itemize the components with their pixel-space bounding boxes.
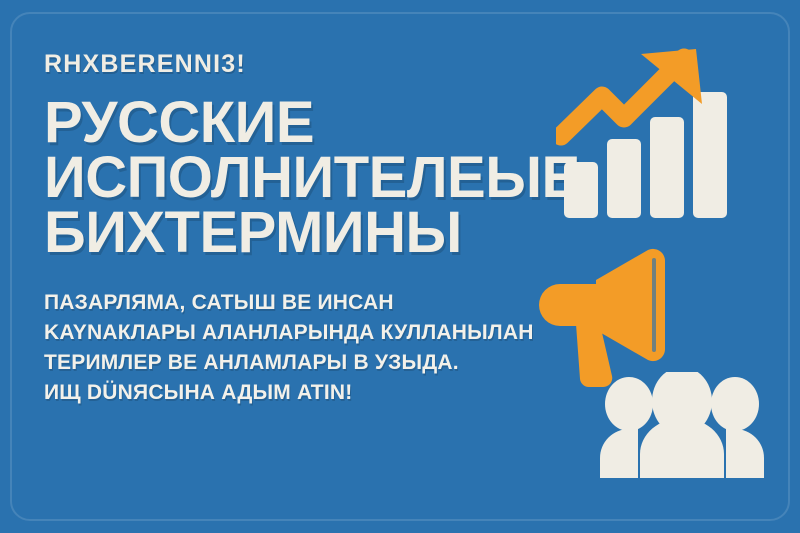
poster-canvas: RHXBERENNI3! РУССКИЕ ИСПОЛНИТЕЛЕЫЕ БИХТЕ… (0, 0, 800, 533)
growth-bar-chart-icon (556, 44, 746, 224)
body-copy: ПАЗАРЛЯМА, САТЫШ ВЕ ИНСАН KAYNAКЛАРЫ АЛА… (44, 288, 574, 408)
body-line-1: ПАЗАРЛЯМА, САТЫШ ВЕ ИНСАН (44, 288, 574, 318)
body-line-2: KAYNAКЛАРЫ АЛАНЛАРЫНДА КУЛЛАНЫЛАН (44, 318, 574, 348)
body-line-4: ИЩ DÜNЯСЫНА АДЫМ ATIN! (44, 378, 574, 408)
headline-line-1: РУССКИЕ (44, 95, 574, 150)
headline-line-3: БИХТЕРМИНЫ (44, 205, 574, 260)
person-center (640, 372, 724, 478)
megaphone-icon (524, 236, 704, 388)
body-line-3: ТЕРИМЛЕР ВЕ АНЛАМЛАРЫ В УЗЫДА. (44, 348, 574, 378)
people-group-icon (596, 372, 768, 478)
text-block: RHXBERENNI3! РУССКИЕ ИСПОЛНИТЕЛЕЫЕ БИХТЕ… (44, 52, 574, 408)
kicker-text: RHXBERENNI3! (44, 52, 574, 77)
headline-line-2: ИСПОЛНИТЕЛЕЫЕ (44, 150, 574, 205)
page-title: РУССКИЕ ИСПОЛНИТЕЛЕЫЕ БИХТЕРМИНЫ (44, 95, 574, 260)
